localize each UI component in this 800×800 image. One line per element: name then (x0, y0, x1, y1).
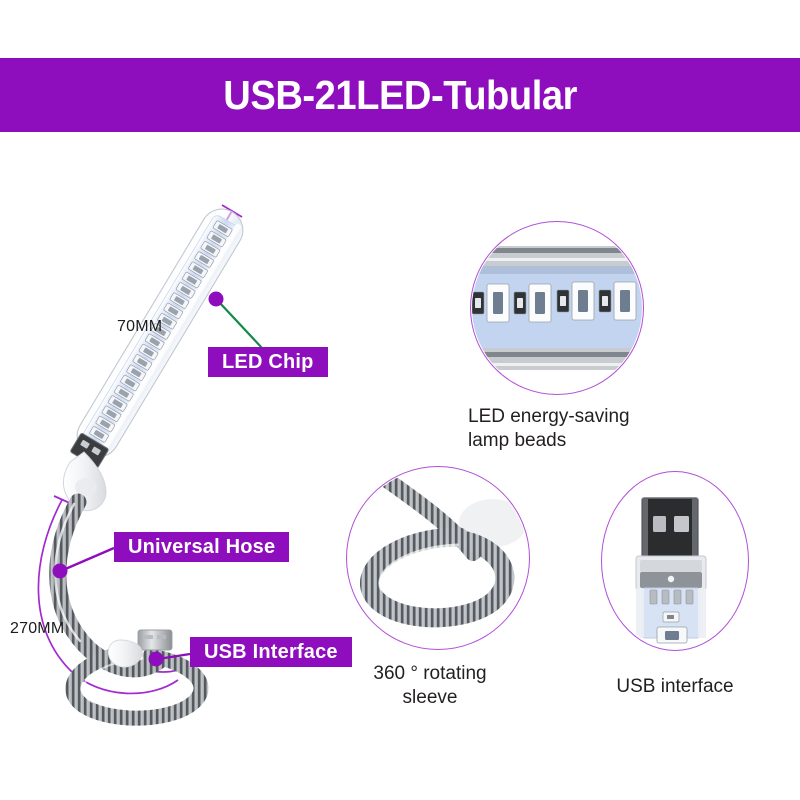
neck-housing (63, 452, 106, 511)
inset-rotating-sleeve (346, 466, 530, 650)
callout-label-universal-hose: Universal Hose (114, 532, 289, 562)
led-tube (66, 201, 251, 470)
inset-caption-rotating-sleeve: 360 ° rotating sleeve (330, 662, 530, 710)
infographic-page: USB-21LED-Tubular (0, 0, 800, 800)
tube-connector (70, 433, 109, 468)
title-banner: USB-21LED-Tubular (0, 58, 800, 132)
callout-dot-led-chip (209, 292, 224, 307)
callout-leader-led-chip (209, 292, 263, 349)
inset-caption-usb-plug: USB interface (600, 675, 750, 699)
dimension-270mm (38, 496, 186, 693)
inset-rotating-sleeve-image (347, 467, 529, 649)
callout-label-usb-interface: USB Interface (190, 637, 352, 667)
callout-dot-universal-hose (53, 564, 68, 579)
callout-label-led-chip: LED Chip (208, 347, 328, 377)
callout-leader-universal-hose (53, 548, 115, 579)
dimension-label-270mm: 270MM (10, 620, 64, 638)
inset-usb-plug (601, 471, 749, 651)
usb-plug-main (108, 630, 172, 667)
inset-caption-lamp-beads: LED energy-saving lamp beads (440, 405, 708, 453)
inset-usb-plug-image (602, 472, 748, 650)
dimension-label-70mm: 70MM (117, 318, 162, 336)
page-title: USB-21LED-Tubular (223, 72, 577, 119)
callout-dot-usb-interface (149, 652, 164, 667)
callout-leader-usb-interface (149, 652, 191, 667)
inset-lamp-beads (470, 221, 644, 395)
inset-lamp-beads-image (471, 222, 643, 394)
